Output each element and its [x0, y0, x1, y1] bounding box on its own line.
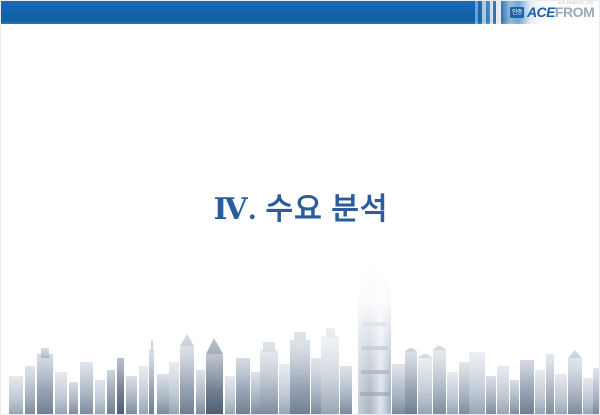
skyline-right-center-cluster	[392, 346, 469, 414]
logo-text-secondary: FROM	[555, 5, 595, 19]
logo-text-primary: ACE	[527, 5, 555, 19]
banner-stripe	[496, 1, 501, 24]
banner-stripe	[475, 1, 478, 24]
company-logo: 인증 ACE FROM ACE FROM CO.,LTD.	[510, 4, 594, 20]
skyline-center-cluster	[260, 328, 352, 414]
banner-stripe	[490, 1, 493, 24]
skyline-left-cluster	[9, 340, 154, 414]
skyline-right-cluster	[469, 350, 600, 414]
skyline-left-center-cluster	[157, 334, 260, 414]
cityscape-image	[1, 254, 600, 414]
banner-stripe	[482, 1, 486, 24]
ifc-tower	[358, 258, 391, 414]
certification-badge-icon: 인증	[510, 7, 524, 18]
skyline-svg	[1, 254, 600, 414]
logo-wordmark: ACE FROM ACE FROM CO.,LTD.	[527, 5, 594, 19]
cityscape-haze-overlay	[1, 254, 600, 414]
page-title: Ⅳ. 수요 분석	[1, 193, 600, 227]
logo-tagline: ACE FROM CO.,LTD.	[558, 1, 594, 5]
presentation-slide: 인증 ACE FROM ACE FROM CO.,LTD. Ⅳ. 수요 분석	[0, 0, 600, 415]
